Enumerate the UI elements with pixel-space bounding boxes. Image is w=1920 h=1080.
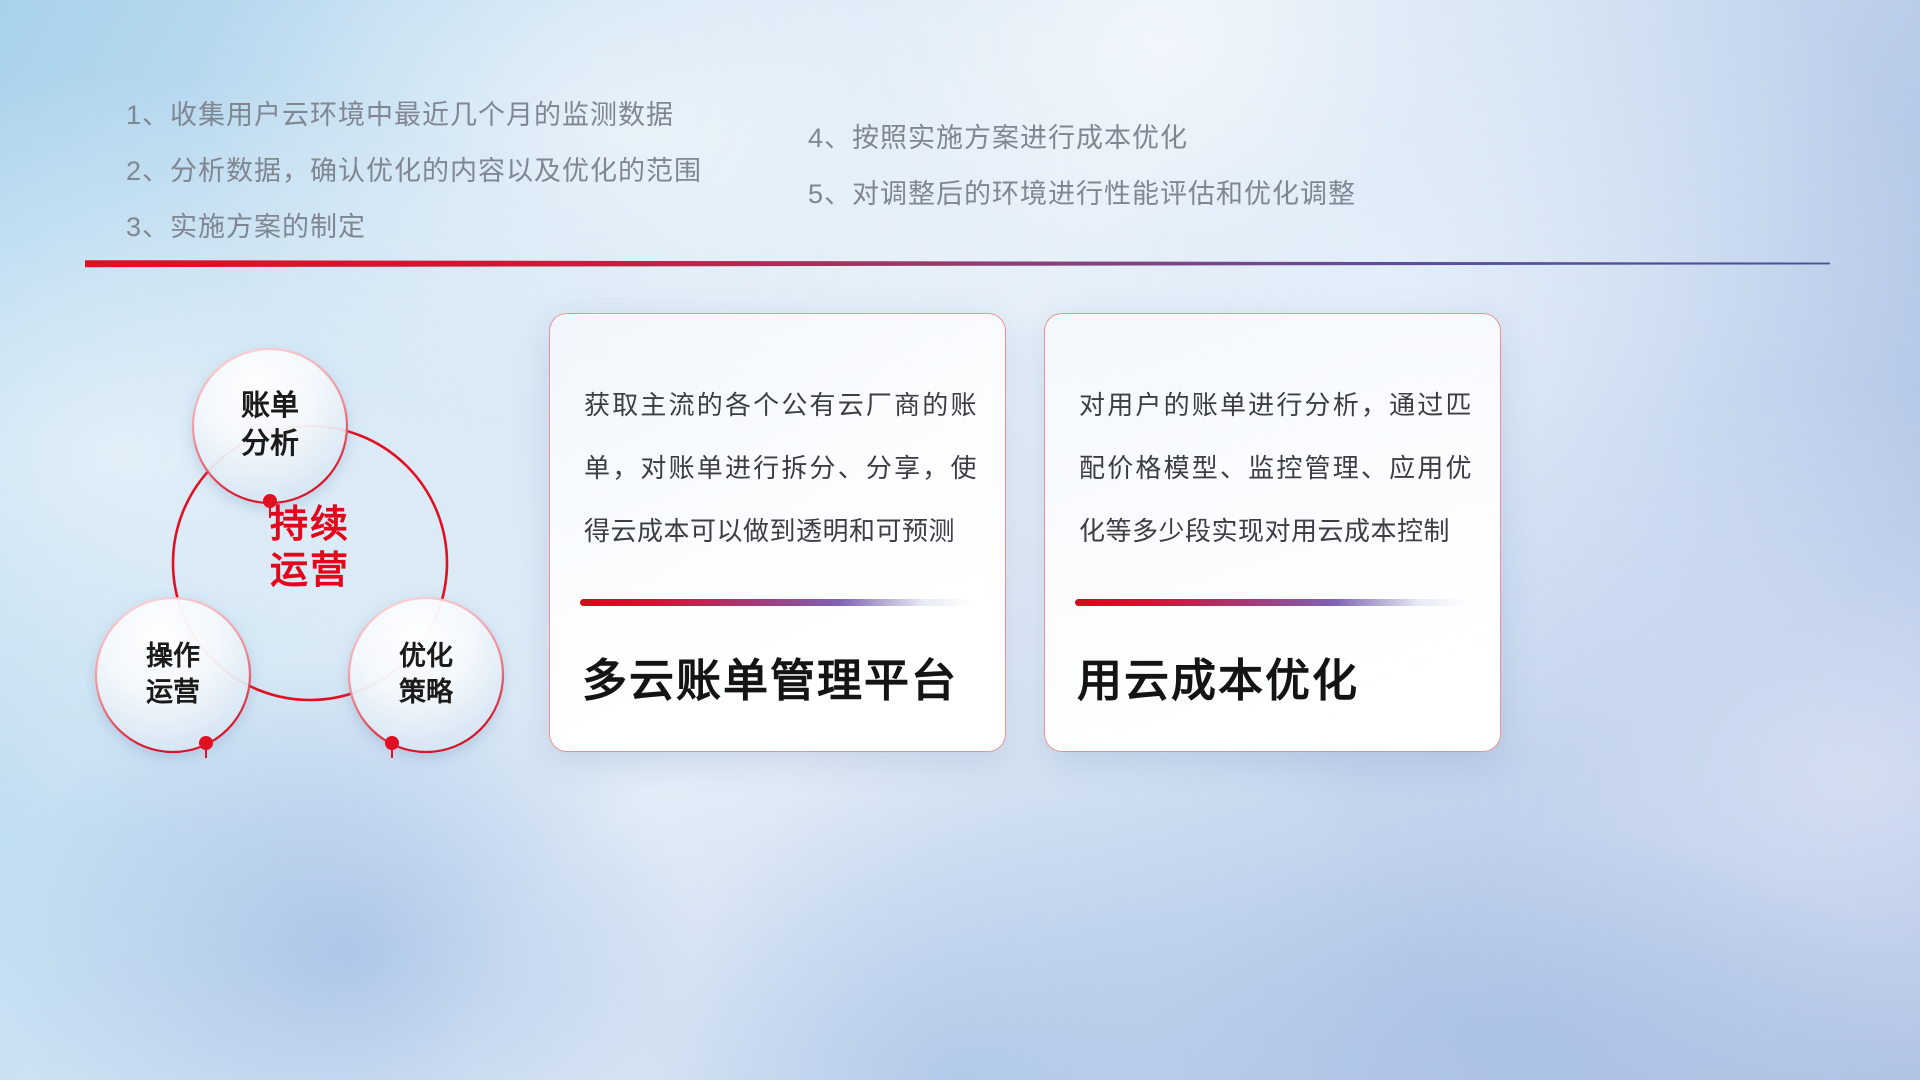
bullet-column-right: 4、按照实施方案进行成本优化 5、对调整后的环境进行性能评估和优化调整: [808, 125, 1356, 237]
venn-node-top-line1: 账单: [241, 389, 299, 422]
divider-shape: [85, 259, 1830, 268]
card2-accent-rule: [1075, 599, 1467, 606]
bullet-item-1: 1、收集用户云环境中最近几个月的监测数据: [126, 102, 702, 129]
bullet-list: 1、收集用户云环境中最近几个月的监测数据 2、分析数据，确认优化的内容以及优化的…: [0, 0, 1920, 250]
bullet-column-left: 1、收集用户云环境中最近几个月的监测数据 2、分析数据，确认优化的内容以及优化的…: [126, 102, 702, 270]
venn-node-bottom-right: 优化 策略: [349, 598, 503, 752]
venn-connector-bottom-right: [385, 736, 399, 758]
card1-body-text: 获取主流的各个公有云厂商的账单，对账单进行拆分、分享，使得云成本可以做到透明和可…: [584, 374, 977, 563]
venn-node-bottom-left: 操作 运营: [96, 598, 250, 752]
card2-body-text: 对用户的账单进行分析，通过匹配价格模型、监控管理、应用优化等多少段实现对用云成本…: [1079, 374, 1472, 563]
venn-center-label-line1: 持续: [270, 504, 350, 546]
venn-node-bl-line2: 运营: [146, 677, 200, 707]
venn-node-bl-line1: 操作: [146, 641, 200, 671]
bullet-item-4: 4、按照实施方案进行成本优化: [808, 125, 1356, 152]
bullet-item-3: 3、实施方案的制定: [126, 214, 702, 241]
venn-node-br-line1: 优化: [399, 641, 453, 671]
venn-diagram: 操作 运营 优化 策略 账单 分析 持续 运营: [85, 290, 535, 770]
venn-node-br-line2: 策略: [399, 676, 454, 707]
bullet-item-5: 5、对调整后的环境进行性能评估和优化调整: [808, 181, 1356, 208]
section-divider: [85, 255, 1830, 264]
card2-title: 用云成本优化: [1077, 644, 1359, 709]
venn-connector-bottom-left: [199, 736, 213, 758]
feature-card-cost-optimization[interactable]: 对用户的账单进行分析，通过匹配价格模型、监控管理、应用优化等多少段实现对用云成本…: [1044, 313, 1501, 752]
venn-svg: 操作 运营 优化 策略 账单 分析 持续 运营: [85, 290, 535, 770]
card1-accent-rule: [580, 599, 972, 606]
venn-node-top: 账单 分析: [193, 349, 347, 503]
feature-card-billing-platform[interactable]: 获取主流的各个公有云厂商的账单，对账单进行拆分、分享，使得云成本可以做到透明和可…: [549, 313, 1006, 752]
bullet-item-2: 2、分析数据，确认优化的内容以及优化的范围: [126, 158, 702, 185]
venn-center-label-line2: 运营: [270, 550, 350, 592]
card1-title: 多云账单管理平台: [582, 644, 958, 709]
venn-node-top-line2: 分析: [241, 427, 299, 460]
